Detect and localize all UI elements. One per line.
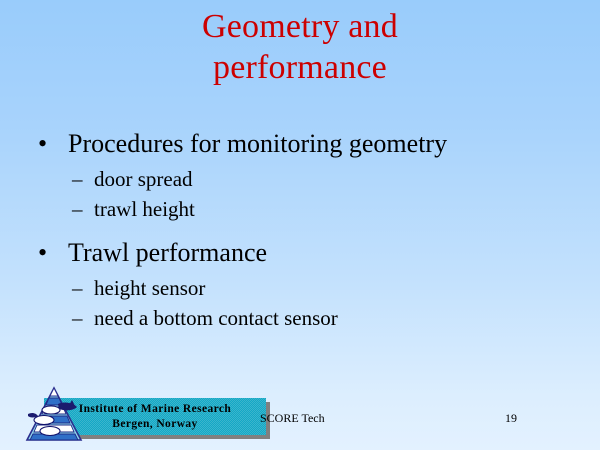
bullet-dash-icon: – — [72, 196, 83, 223]
bullet-level2-item: – door spread — [0, 166, 600, 193]
title-line-1: Geometry and — [0, 6, 600, 47]
bullet-dash-icon: – — [72, 166, 83, 193]
bullet-text: need a bottom contact sensor — [94, 306, 338, 330]
bullet-dot-icon: • — [38, 128, 47, 160]
logo-line-1: Institute of Marine Research — [79, 402, 231, 417]
bullet-text: Procedures for monitoring geometry — [68, 129, 447, 158]
title-line-2: performance — [0, 47, 600, 88]
footer-page-number: 19 — [505, 411, 545, 426]
bullet-level2-item: – need a bottom contact sensor — [0, 305, 600, 332]
bullet-text: door spread — [94, 167, 193, 191]
bullet-dash-icon: – — [72, 305, 83, 332]
footer-center-text: SCORE Tech — [260, 411, 325, 426]
institute-logo: Institute of Marine Research Bergen, Nor… — [25, 386, 255, 442]
logo-line-2: Bergen, Norway — [112, 417, 197, 432]
bullet-dash-icon: – — [72, 275, 83, 302]
pyramid-whales-logo-icon — [25, 386, 83, 442]
bullet-level2-item: – trawl height — [0, 196, 600, 223]
bullet-level1-item: • Trawl performance — [0, 237, 600, 269]
bullet-dot-icon: • — [38, 237, 47, 269]
slide-title: Geometry and performance — [0, 6, 600, 88]
bullet-level2-item: – height sensor — [0, 275, 600, 302]
bullet-text: trawl height — [94, 197, 195, 221]
bullet-level1-item: • Procedures for monitoring geometry — [0, 128, 600, 160]
slide-canvas: Geometry and performance • Procedures fo… — [0, 0, 600, 450]
slide-body: • Procedures for monitoring geometry – d… — [0, 128, 600, 335]
bullet-text: Trawl performance — [68, 238, 267, 267]
bullet-text: height sensor — [94, 276, 205, 300]
